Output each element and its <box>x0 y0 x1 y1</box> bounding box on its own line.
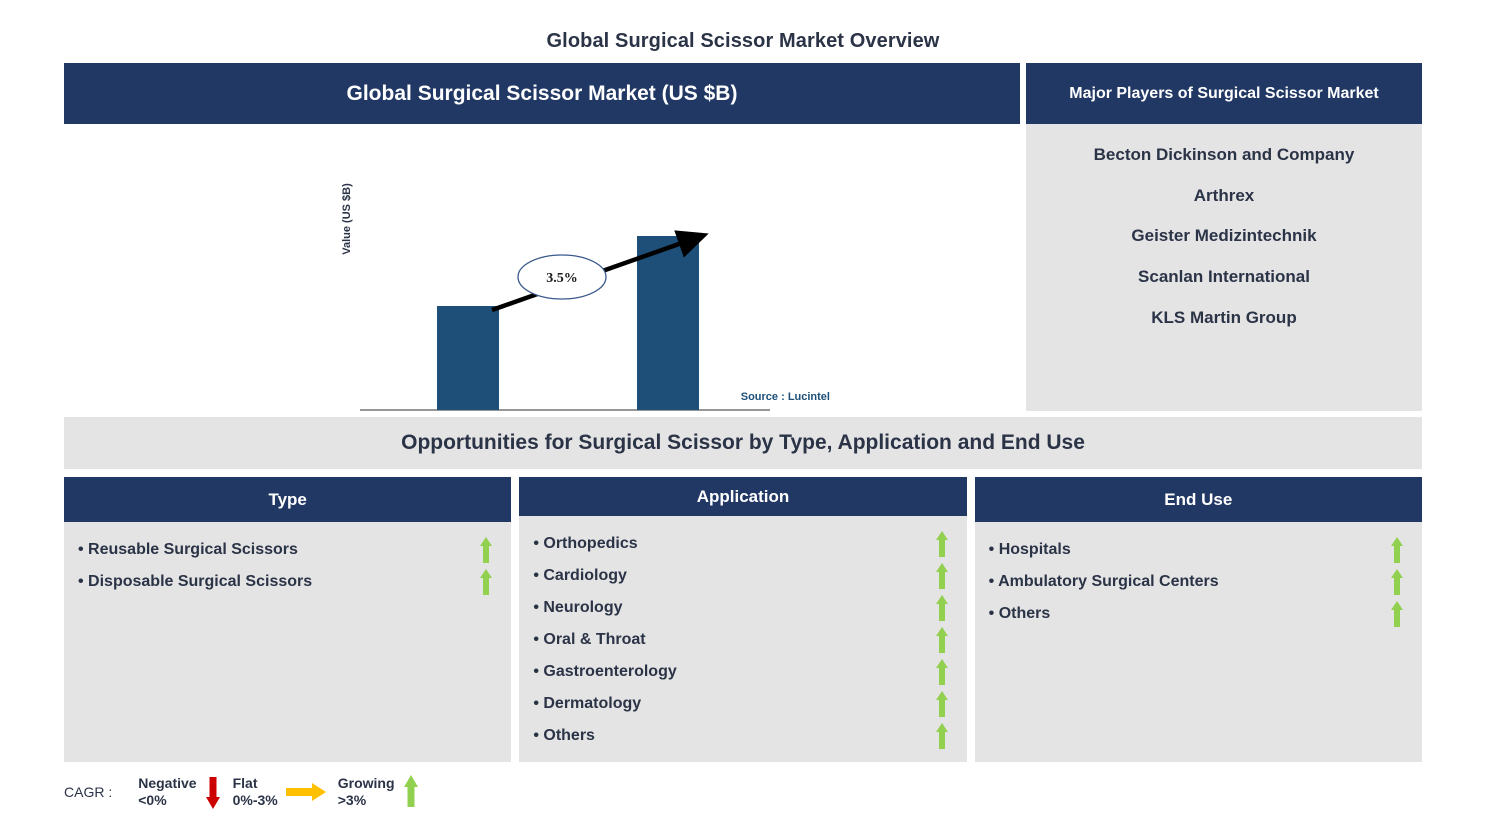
column-header: Type <box>64 477 511 522</box>
bar-2025 <box>437 306 499 410</box>
arrow-up-icon <box>931 595 953 621</box>
arrow-up-icon <box>931 691 953 717</box>
list-item-label: • Cardiology <box>533 567 627 585</box>
list-item: Scanlan International <box>1138 268 1310 287</box>
arrow-up-icon <box>931 723 953 749</box>
list-item-label: • Oral & Throat <box>533 631 645 649</box>
chart-source: Source : Lucintel <box>741 391 830 403</box>
players-panel-header: Major Players of Surgical Scissor Market <box>1026 63 1422 124</box>
legend-title: CAGR : <box>64 784 112 800</box>
column-body: • Orthopedics • Cardiology • Neurology <box>519 516 966 762</box>
arrow-up-icon <box>931 531 953 557</box>
y-axis-label: Value (US $B) <box>341 183 353 255</box>
arrow-up-icon <box>475 569 497 595</box>
legend-item-text: Flat 0%-3% <box>233 775 278 810</box>
list-item: • Dermatology <box>533 688 952 720</box>
list-item: Arthrex <box>1194 187 1254 206</box>
arrow-up-icon <box>1386 537 1408 563</box>
arrow-up-icon <box>931 659 953 685</box>
major-players-panel: Major Players of Surgical Scissor Market… <box>1026 63 1422 411</box>
list-item: Becton Dickinson and Company <box>1094 146 1355 165</box>
list-item: • Oral & Throat <box>533 624 952 656</box>
arrow-up-icon <box>1386 601 1408 627</box>
infographic-page: Global Surgical Scissor Market Overview … <box>0 0 1486 824</box>
opportunities-banner: Opportunities for Surgical Scissor by Ty… <box>64 417 1422 469</box>
list-item: • Others <box>533 720 952 752</box>
list-item-label: • Reusable Surgical Scissors <box>78 541 298 559</box>
market-bar-chart: Value (US $B) 2025 2031 3.5% <box>64 124 1020 413</box>
list-item: • Others <box>989 598 1408 630</box>
list-item: • Cardiology <box>533 560 952 592</box>
column-body: • Hospitals • Ambulatory Surgical Center… <box>975 522 1422 762</box>
arrow-up-icon <box>403 775 419 809</box>
opportunities-columns: Type • Reusable Surgical Scissors • Disp… <box>64 477 1422 762</box>
legend-item-text: Negative <0% <box>138 775 196 810</box>
list-item: • Orthopedics <box>533 528 952 560</box>
bar-2031 <box>637 236 699 410</box>
market-chart-panel: Global Surgical Scissor Market (US $B) V… <box>64 63 1020 413</box>
cagr-legend: CAGR : Negative <0% Flat 0%-3% Growing >… <box>64 770 431 814</box>
arrow-right-icon <box>286 782 326 802</box>
list-item: • Neurology <box>533 592 952 624</box>
list-item: • Ambulatory Surgical Centers <box>989 566 1408 598</box>
list-item: • Gastroenterology <box>533 656 952 688</box>
legend-item-label: Growing <box>338 775 395 791</box>
list-item: KLS Martin Group <box>1151 309 1296 328</box>
arrow-up-icon <box>931 563 953 589</box>
chart-panel-header: Global Surgical Scissor Market (US $B) <box>64 63 1020 124</box>
legend-item-text: Growing >3% <box>338 775 395 810</box>
cagr-value: 3.5% <box>546 271 578 286</box>
legend-item-range: <0% <box>138 792 196 810</box>
chart-body: Value (US $B) 2025 2031 3.5% <box>64 124 1020 413</box>
column-body: • Reusable Surgical Scissors • Disposabl… <box>64 522 511 762</box>
legend-item-range: 0%-3% <box>233 792 278 810</box>
list-item-label: • Gastroenterology <box>533 663 676 681</box>
list-item-label: • Neurology <box>533 599 622 617</box>
legend-item-growing: Growing >3% <box>338 775 427 810</box>
column-header: Application <box>519 477 966 516</box>
list-item: • Hospitals <box>989 534 1408 566</box>
column-type: Type • Reusable Surgical Scissors • Disp… <box>64 477 511 762</box>
legend-item-label: Flat <box>233 775 258 791</box>
list-item: • Disposable Surgical Scissors <box>78 566 497 598</box>
legend-item-range: >3% <box>338 792 395 810</box>
arrow-up-icon <box>931 627 953 653</box>
column-header: End Use <box>975 477 1422 522</box>
legend-item-flat: Flat 0%-3% <box>233 775 334 810</box>
arrow-up-icon <box>1386 569 1408 595</box>
arrow-down-icon <box>205 775 221 809</box>
list-item-label: • Ambulatory Surgical Centers <box>989 573 1219 591</box>
list-item: Geister Medizintechnik <box>1131 227 1316 246</box>
list-item-label: • Others <box>989 605 1051 623</box>
legend-item-negative: Negative <0% <box>138 775 228 810</box>
legend-item-label: Negative <box>138 775 196 791</box>
arrow-up-icon <box>475 537 497 563</box>
list-item: • Reusable Surgical Scissors <box>78 534 497 566</box>
list-item-label: • Orthopedics <box>533 535 637 553</box>
page-title: Global Surgical Scissor Market Overview <box>0 30 1486 53</box>
list-item-label: • Disposable Surgical Scissors <box>78 573 312 591</box>
column-application: Application • Orthopedics • Cardiology •… <box>519 477 966 762</box>
players-list: Becton Dickinson and Company Arthrex Gei… <box>1026 124 1422 411</box>
column-end-use: End Use • Hospitals • Ambulatory Surgica… <box>975 477 1422 762</box>
list-item-label: • Others <box>533 727 595 745</box>
list-item-label: • Hospitals <box>989 541 1071 559</box>
list-item-label: • Dermatology <box>533 695 641 713</box>
